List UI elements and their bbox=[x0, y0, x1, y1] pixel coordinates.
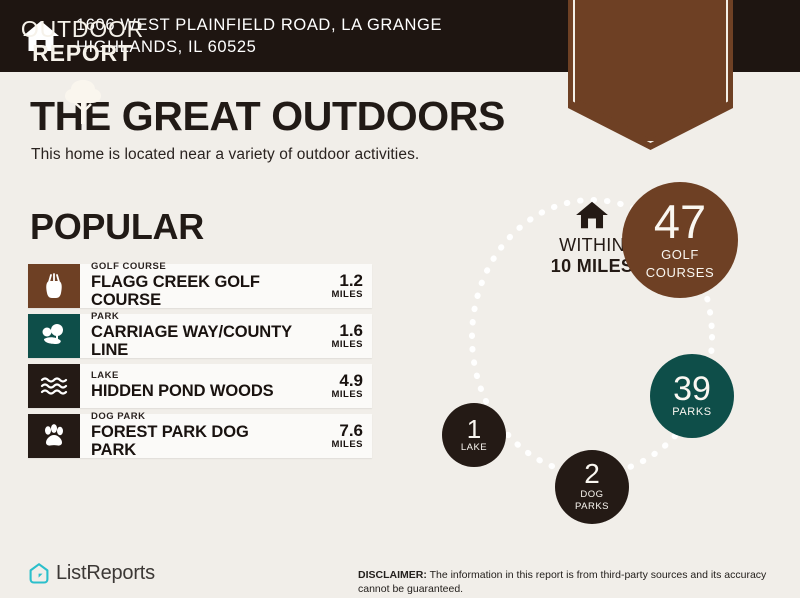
tree-icon bbox=[62, 78, 104, 126]
list-item-text: PARK CARRIAGE WAY/COUNTY LINE bbox=[80, 314, 297, 358]
bubble-dog-parks[interactable]: 2 DOG PARKS bbox=[555, 450, 629, 524]
outdoor-report-badge bbox=[568, 0, 733, 150]
within-10-miles-chart: WITHIN 10 MILES 47 GOLF COURSES 39 PARKS… bbox=[400, 160, 800, 550]
list-item[interactable]: GOLF COURSE FLAGG CREEK GOLF COURSE 1.2 … bbox=[28, 264, 372, 308]
bubble-lake[interactable]: 1 LAKE bbox=[442, 403, 506, 467]
list-item-icon-tile bbox=[28, 264, 80, 308]
bubble-golf-courses-label1: GOLF bbox=[661, 248, 699, 262]
disclaimer: DISCLAIMER: The information in this repo… bbox=[358, 568, 794, 596]
bubble-golf-courses-label2: COURSES bbox=[646, 266, 715, 280]
badge-tree-wrap bbox=[0, 78, 165, 131]
list-item-icon-tile bbox=[28, 364, 80, 408]
list-item-name: FLAGG CREEK GOLF COURSE bbox=[91, 273, 297, 311]
list-item-category: GOLF COURSE bbox=[91, 262, 297, 273]
list-item[interactable]: DOG PARK FOREST PARK DOG PARK 7.6 MILES bbox=[28, 414, 372, 458]
bubble-parks-label1: PARKS bbox=[672, 407, 711, 419]
list-item-name: CARRIAGE WAY/COUNTY LINE bbox=[91, 323, 297, 361]
badge-title-line1: OUTDOOR bbox=[0, 17, 165, 41]
list-item-distance: 7.6 MILES bbox=[297, 414, 372, 458]
list-item-distance: 1.6 MILES bbox=[297, 314, 372, 358]
list-item-category: LAKE bbox=[91, 371, 297, 382]
list-item-distance-unit: MILES bbox=[331, 389, 363, 400]
bubble-lake-value: 1 bbox=[467, 417, 481, 442]
list-item-category: DOG PARK bbox=[91, 412, 297, 423]
list-item-distance-value: 1.6 bbox=[339, 322, 363, 340]
list-item-icon-tile bbox=[28, 414, 80, 458]
bubble-dog-parks-value: 2 bbox=[584, 461, 600, 488]
bubble-lake-label1: LAKE bbox=[461, 443, 487, 453]
bubble-dog-parks-label2: PARKS bbox=[575, 502, 609, 512]
footer: ListReports DISCLAIMER: The information … bbox=[0, 550, 800, 598]
list-item-category: PARK bbox=[91, 312, 297, 323]
golf-bag-icon bbox=[41, 272, 67, 300]
bubble-golf-courses-value: 47 bbox=[654, 200, 706, 245]
paw-print-icon bbox=[41, 423, 67, 449]
badge-title: OUTDOOR REPORT bbox=[0, 17, 165, 66]
list-item-distance-value: 4.9 bbox=[339, 372, 363, 390]
popular-heading: POPULAR bbox=[30, 209, 204, 245]
trees-icon bbox=[40, 323, 68, 349]
bubble-golf-courses[interactable]: 47 GOLF COURSES bbox=[622, 182, 738, 298]
home-icon bbox=[575, 200, 609, 230]
list-item-distance: 1.2 MILES bbox=[297, 264, 372, 308]
list-item-name: FOREST PARK DOG PARK bbox=[91, 423, 297, 461]
list-item[interactable]: LAKE HIDDEN POND WOODS 4.9 MILES bbox=[28, 364, 372, 408]
list-item-distance-value: 1.2 bbox=[339, 272, 363, 290]
list-item-text: GOLF COURSE FLAGG CREEK GOLF COURSE bbox=[80, 264, 297, 308]
list-item-distance-unit: MILES bbox=[331, 439, 363, 450]
bubble-parks-value: 39 bbox=[673, 373, 711, 405]
page-subtitle: This home is located near a variety of o… bbox=[31, 146, 419, 164]
listreports-logo-text: ListReports bbox=[56, 562, 155, 585]
badge-title-line2: REPORT bbox=[0, 41, 165, 66]
badge-inner-border bbox=[573, 0, 728, 143]
list-item-distance-value: 7.6 bbox=[339, 422, 363, 440]
disclaimer-label: DISCLAIMER: bbox=[358, 569, 427, 581]
popular-list: GOLF COURSE FLAGG CREEK GOLF COURSE 1.2 … bbox=[28, 264, 372, 464]
list-item[interactable]: PARK CARRIAGE WAY/COUNTY LINE 1.6 MILES bbox=[28, 314, 372, 358]
bubble-parks[interactable]: 39 PARKS bbox=[650, 354, 734, 438]
list-item-text: LAKE HIDDEN POND WOODS bbox=[80, 364, 297, 408]
listreports-logo[interactable]: ListReports bbox=[28, 562, 155, 585]
bubble-dog-parks-label1: DOG bbox=[580, 490, 603, 500]
list-item-distance: 4.9 MILES bbox=[297, 364, 372, 408]
outdoor-report-page: 1606 WEST PLAINFIELD ROAD, LA GRANGE HIG… bbox=[0, 0, 800, 598]
list-item-distance-unit: MILES bbox=[331, 339, 363, 350]
listreports-house-icon bbox=[28, 562, 50, 585]
list-item-distance-unit: MILES bbox=[331, 289, 363, 300]
list-item-icon-tile bbox=[28, 314, 80, 358]
waves-icon bbox=[40, 375, 68, 397]
list-item-name: HIDDEN POND WOODS bbox=[91, 382, 297, 401]
list-item-text: DOG PARK FOREST PARK DOG PARK bbox=[80, 414, 297, 458]
